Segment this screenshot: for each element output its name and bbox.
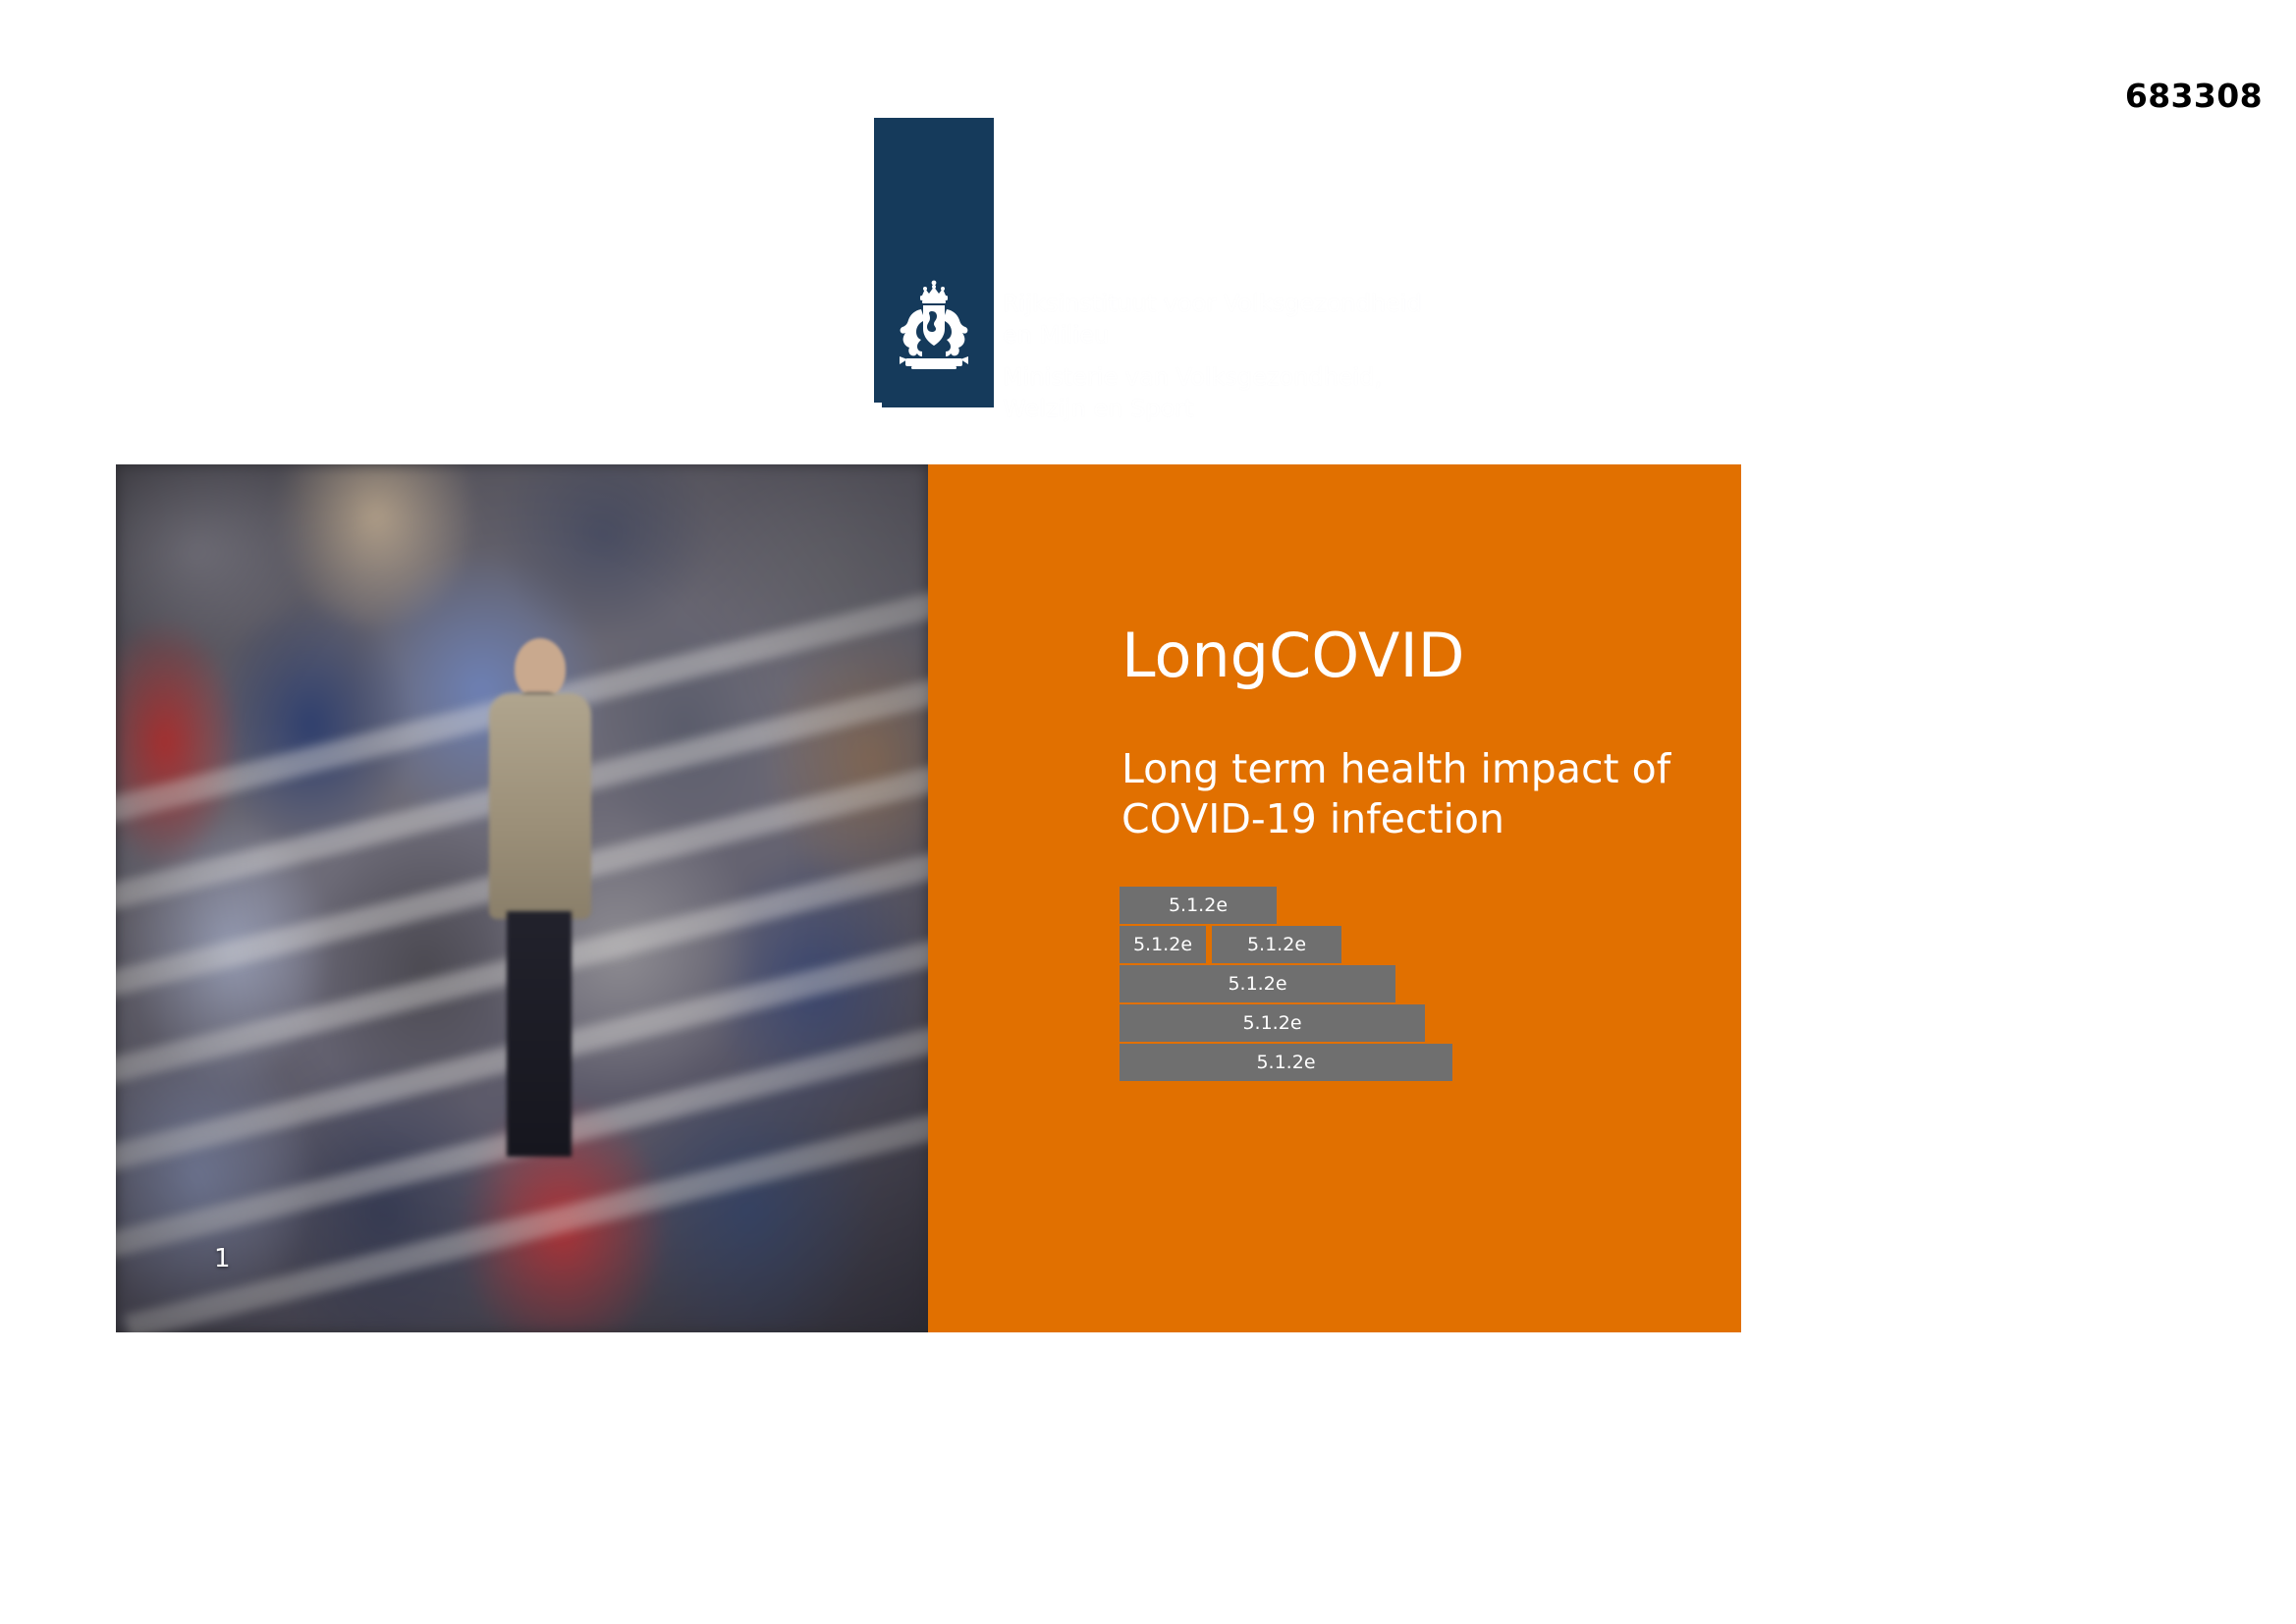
redaction-box: 5.1.2e — [1212, 926, 1341, 963]
document-id-number: 683308 — [2125, 77, 2263, 115]
logo-org-line-2: en Milieu — [1003, 319, 1109, 351]
redaction-block: 5.1.2e5.1.2e5.1.2e5.1.2e5.1.2e5.1.2e — [1120, 887, 1630, 1083]
slide-page-number: 1 — [214, 1244, 231, 1273]
title-slide: 1 LongCOVID Long term health impact of C… — [116, 464, 1741, 1332]
redaction-row: 5.1.2e5.1.2e — [1120, 926, 1630, 963]
orange-title-panel: LongCOVID Long term health impact of COV… — [928, 464, 1741, 1332]
redaction-box: 5.1.2e — [1120, 926, 1206, 963]
slide-subtitle-line-2: COVID-19 infection — [1121, 794, 1711, 844]
crowd-photograph: 1 — [116, 464, 928, 1332]
photo-vignette — [116, 464, 928, 1332]
logo-organisation-text: Rijksinstituut voor Volksgezondheid en M… — [1003, 118, 1499, 403]
dutch-coat-of-arms-icon — [892, 280, 976, 382]
redaction-row: 5.1.2e — [1120, 887, 1630, 924]
redaction-box: 5.1.2e — [1120, 887, 1277, 924]
slide-subtitle-line-1: Long term health impact of — [1121, 744, 1711, 794]
logo-ministry-line-2: Welzijn en Sport — [1003, 393, 1194, 424]
redaction-box: 5.1.2e — [1120, 1004, 1425, 1042]
redaction-box: 5.1.2e — [1120, 1044, 1452, 1081]
logo-ministry-line-1: Ministerie van Volksgezondheid, — [1003, 361, 1382, 393]
redaction-row: 5.1.2e — [1120, 1004, 1630, 1042]
rivm-ministry-logo: Rijksinstituut voor Volksgezondheid en M… — [874, 118, 1503, 412]
redaction-row: 5.1.2e — [1120, 965, 1630, 1002]
slide-title: LongCOVID — [1121, 622, 1464, 690]
redaction-box: 5.1.2e — [1120, 965, 1395, 1002]
logo-org-line-1: Rijksinstituut voor Volksgezondheid — [1003, 288, 1422, 319]
redaction-row: 5.1.2e — [1120, 1044, 1630, 1081]
slide-subtitle: Long term health impact of COVID-19 infe… — [1121, 744, 1711, 844]
logo-blue-bar-foot — [882, 399, 994, 407]
